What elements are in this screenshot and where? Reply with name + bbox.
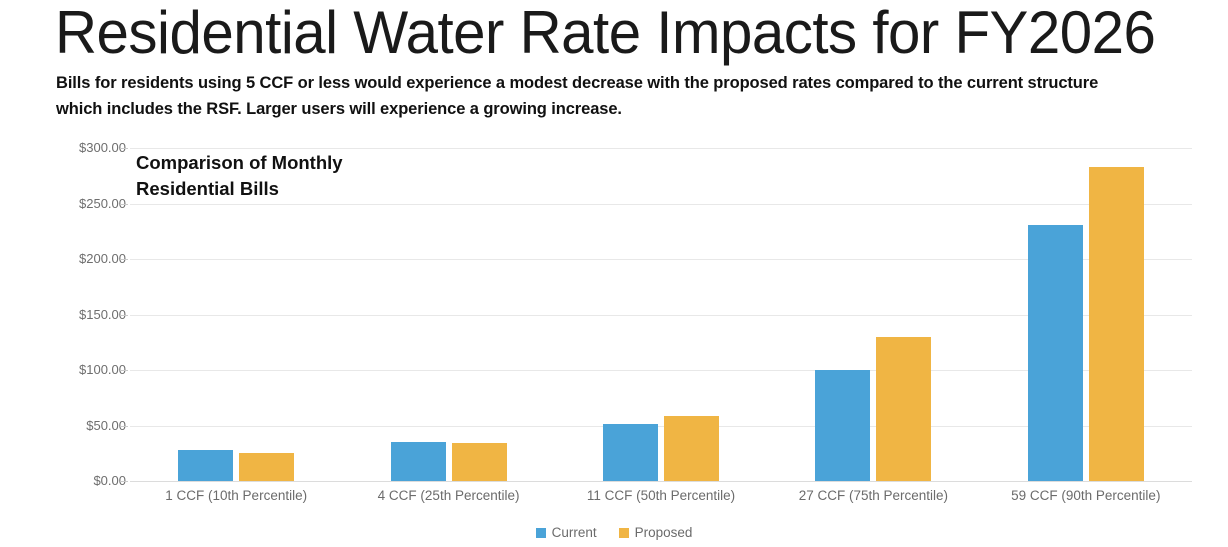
bar-groups xyxy=(130,148,1192,481)
chart-legend: CurrentProposed xyxy=(0,525,1228,540)
y-axis-tick xyxy=(120,370,128,371)
x-axis-label: 1 CCF (10th Percentile) xyxy=(130,488,342,503)
y-axis-label: $100.00 xyxy=(46,362,126,377)
bar-current[interactable] xyxy=(815,370,870,481)
bar-group xyxy=(391,148,507,481)
bar-group xyxy=(603,148,719,481)
legend-label: Current xyxy=(552,525,597,540)
bar-proposed[interactable] xyxy=(664,416,719,481)
x-axis-label: 4 CCF (25th Percentile) xyxy=(342,488,554,503)
legend-item[interactable]: Proposed xyxy=(619,525,693,540)
slide-subtitle: Bills for residents using 5 CCF or less … xyxy=(56,70,1131,122)
legend-item[interactable]: Current xyxy=(536,525,597,540)
bar-current[interactable] xyxy=(1028,225,1083,481)
page-title: Residential Water Rate Impacts for FY202… xyxy=(55,0,1161,68)
y-axis-tick xyxy=(120,148,128,149)
bar-current[interactable] xyxy=(391,442,446,481)
y-axis-tick xyxy=(120,259,128,260)
y-axis-label: $300.00 xyxy=(46,140,126,155)
bar-proposed[interactable] xyxy=(239,453,294,481)
legend-swatch-icon xyxy=(619,528,629,538)
slide-canvas: Residential Water Rate Impacts for FY202… xyxy=(0,0,1228,547)
bar-group xyxy=(178,148,294,481)
bar-group xyxy=(1028,148,1144,481)
y-axis-label: $250.00 xyxy=(46,196,126,211)
y-axis-tick xyxy=(120,204,128,205)
gridline xyxy=(130,481,1192,482)
bar-chart: $300.00$250.00$200.00$150.00$100.00$50.0… xyxy=(0,136,1228,547)
y-axis-label: $150.00 xyxy=(46,307,126,322)
y-axis-tick xyxy=(120,426,128,427)
y-axis-tick xyxy=(120,315,128,316)
x-axis-label: 59 CCF (90th Percentile) xyxy=(980,488,1192,503)
y-axis-tick xyxy=(120,481,128,482)
x-axis-label: 27 CCF (75th Percentile) xyxy=(767,488,979,503)
legend-label: Proposed xyxy=(635,525,693,540)
y-axis-label: $0.00 xyxy=(46,473,126,488)
bar-group xyxy=(815,148,931,481)
x-axis-label: 11 CCF (50th Percentile) xyxy=(555,488,767,503)
bar-proposed[interactable] xyxy=(452,443,507,481)
bar-proposed[interactable] xyxy=(876,337,931,481)
x-axis: 1 CCF (10th Percentile)4 CCF (25th Perce… xyxy=(130,488,1192,512)
y-axis-label: $200.00 xyxy=(46,251,126,266)
bar-current[interactable] xyxy=(603,424,658,481)
y-axis-label: $50.00 xyxy=(46,418,126,433)
bar-current[interactable] xyxy=(178,450,233,481)
legend-swatch-icon xyxy=(536,528,546,538)
bar-proposed[interactable] xyxy=(1089,167,1144,481)
